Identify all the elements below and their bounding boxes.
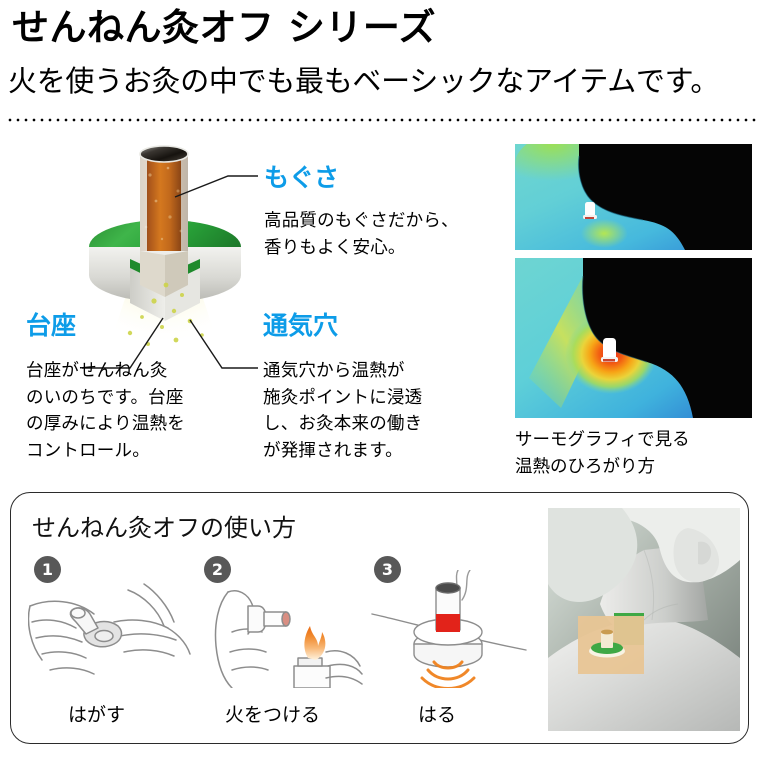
thermography-image-before [515, 144, 752, 250]
thermography-image-after [515, 258, 752, 418]
application-photo [548, 508, 740, 731]
usage-panel-title: せんねん灸オフの使い方 [32, 508, 296, 543]
step-label-2: 火をつける [225, 700, 320, 727]
step-label-3: はる [418, 700, 456, 727]
callout-body-mogusa: 高品質のもぐさだから、 香りもよく安心。 [264, 208, 459, 261]
usage-step-2: 2 [198, 556, 363, 701]
callout-body-tsuukiana: 通気穴から温熱が 施灸ポイントに浸透 し、お灸本来の働き が発揮されます。 [263, 358, 422, 464]
step-label-1: はがす [68, 700, 125, 727]
product-cutaway-diagram [70, 135, 290, 350]
callout-body-daiza: 台座がせんねん灸 のいのちです。台座 の厚みにより温熱を コントロール。 [26, 358, 185, 464]
dotted-divider [6, 118, 756, 122]
page-subtitle: 火を使うお灸の中でも最もベーシックなアイテムです。 [8, 66, 719, 98]
page-title: せんねん灸オフ シリーズ [12, 8, 436, 49]
step-illustration-light [198, 570, 363, 688]
callout-heading-daiza: 台座 [26, 313, 76, 338]
product-info-page: せんねん灸オフ シリーズ 火を使うお灸の中でも最もベーシックなアイテムです。 [0, 0, 761, 762]
step-illustration-peel [28, 570, 193, 688]
callout-heading-mogusa: もぐさ [264, 165, 339, 190]
usage-step-3: 3 [368, 556, 533, 701]
thermography-caption: サーモグラフィで見る 温熱のひろがり方 [515, 427, 690, 480]
callout-heading-tsuukiana: 通気穴 [263, 313, 338, 338]
usage-step-1: 1 [28, 556, 193, 701]
step-illustration-apply [368, 570, 533, 688]
